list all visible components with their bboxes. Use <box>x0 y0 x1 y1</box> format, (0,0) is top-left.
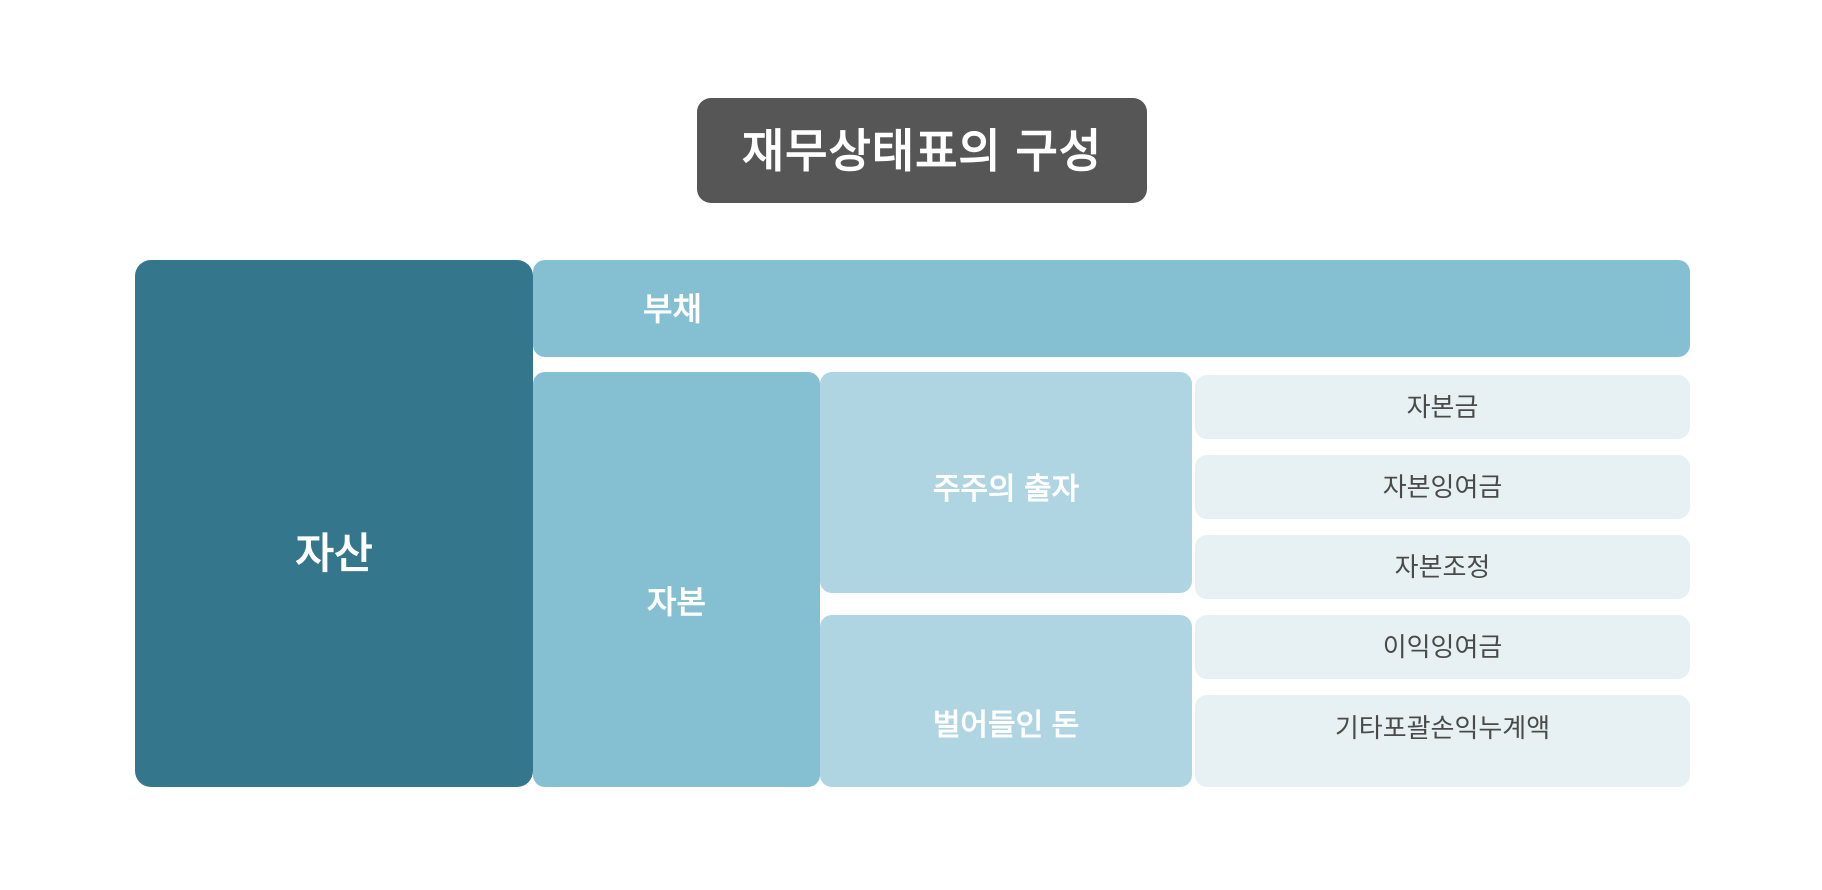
balance-sheet-diagram: 자산 부채 자본 주주의 출자 벌어들인 돈 자본금 자본잉여금 자본조정 이익… <box>0 0 1822 890</box>
list-item-label: 이익잉여금 <box>1383 634 1503 660</box>
block-liabilities: 부채 <box>533 260 1690 357</box>
block-group-shareholder-contribution: 주주의 출자 <box>820 372 1192 593</box>
list-item-label: 자본금 <box>1407 394 1479 420</box>
block-group-earned-money: 벌어들인 돈 <box>820 615 1192 787</box>
list-item: 이익잉여금 <box>1195 615 1690 679</box>
block-liabilities-label: 부채 <box>643 293 702 325</box>
block-equity: 자본 <box>533 372 820 787</box>
list-item-label: 자본잉여금 <box>1383 474 1503 500</box>
list-item: 자본금 <box>1195 375 1690 439</box>
list-item: 자본조정 <box>1195 535 1690 599</box>
block-assets-label: 자산 <box>295 533 372 575</box>
block-equity-label: 자본 <box>647 586 706 618</box>
block-group-earned-money-label: 벌어들인 돈 <box>933 711 1079 741</box>
block-group-shareholder-contribution-label: 주주의 출자 <box>933 475 1079 505</box>
list-item-label: 기타포괄손익누계액 <box>1335 715 1550 741</box>
diagram-canvas: 재무상태표의 구성 자산 부채 자본 주주의 출자 벌어들인 돈 자본금 자본잉… <box>0 0 1822 890</box>
list-item-label: 자본조정 <box>1395 554 1491 580</box>
list-item: 기타포괄손익누계액 <box>1195 695 1690 787</box>
block-assets: 자산 <box>135 260 533 787</box>
list-item: 자본잉여금 <box>1195 455 1690 519</box>
